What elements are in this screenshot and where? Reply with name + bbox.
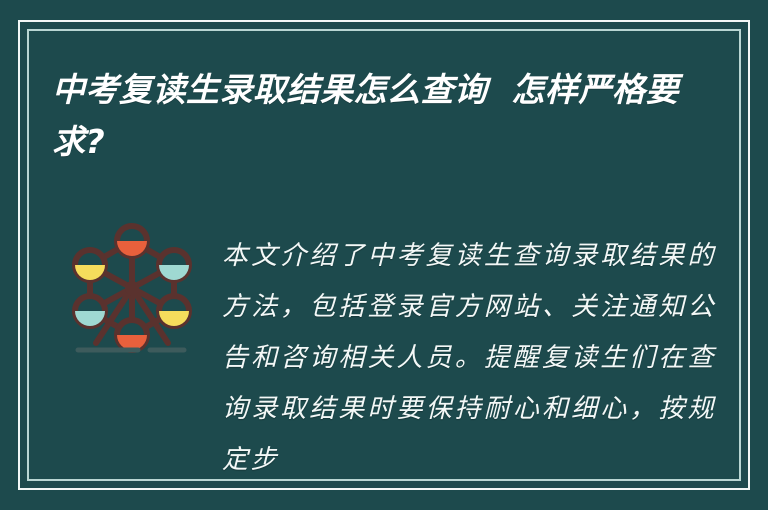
cabin-lower-right (159, 296, 189, 326)
article-body-container: 本文介绍了中考复读生查询录取结果的方法，包括登录官方网站、关注通知公告和咨询相关… (212, 205, 716, 510)
article-card: 中考复读生录取结果怎么查询 怎样严格要求? (0, 0, 768, 510)
illustration-container (52, 205, 212, 357)
article-content: 本文介绍了中考复读生查询录取结果的方法，包括登录官方网站、关注通知公告和咨询相关… (52, 205, 716, 466)
article-body-text: 本文介绍了中考复读生查询录取结果的方法，包括登录官方网站、关注通知公告和咨询相关… (222, 231, 716, 486)
cabin-top (117, 226, 147, 256)
page-title: 中考复读生录取结果怎么查询 怎样严格要求? (52, 64, 692, 168)
wheel-hub (125, 281, 139, 295)
cabin-upper-right (159, 250, 189, 280)
cabin-bottom (117, 320, 147, 350)
ferris-wheel-icon (66, 217, 198, 357)
cabin-lower-left (75, 296, 105, 326)
cabin-upper-left (75, 250, 105, 280)
